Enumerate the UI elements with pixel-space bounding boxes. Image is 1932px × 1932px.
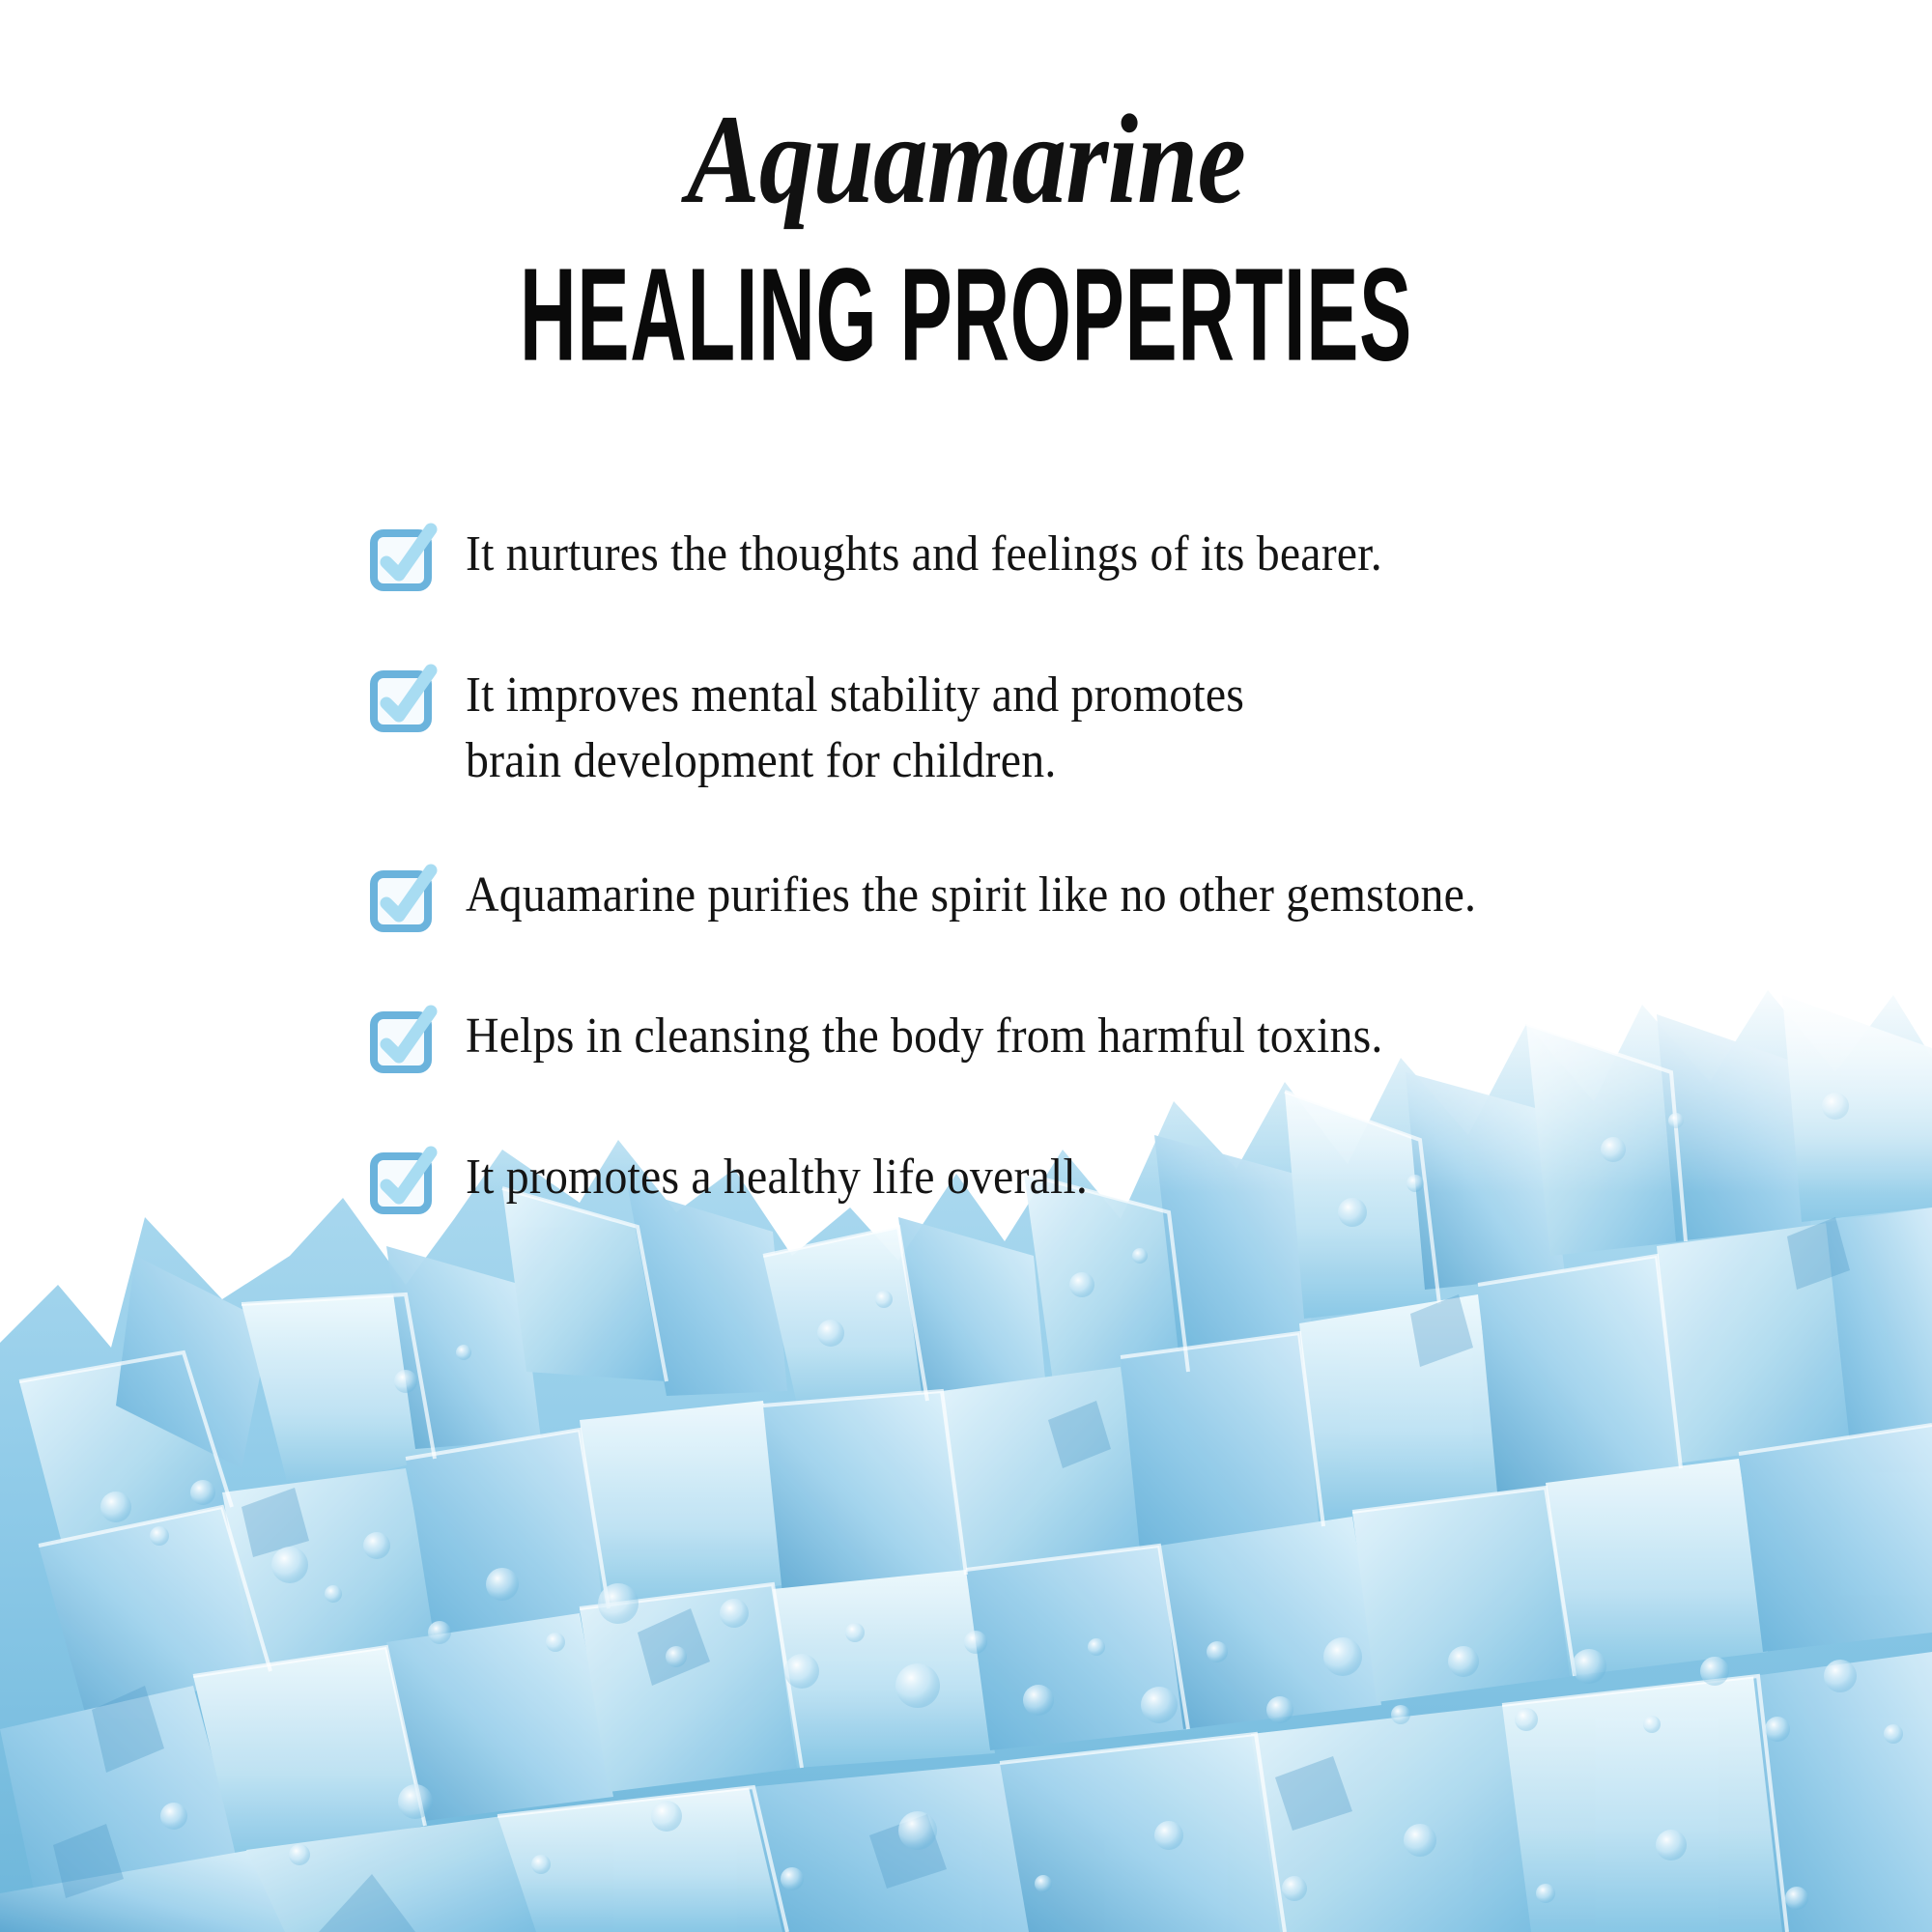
poster-canvas: Aquamarine HEALING PROPERTIES It nurture… xyxy=(0,0,1932,1932)
checkbox-checked-icon xyxy=(369,1008,437,1075)
list-item-label: It promotes a healthy life overall. xyxy=(466,1145,1088,1210)
list-item-label: Aquamarine purifies the spirit like no o… xyxy=(466,863,1476,928)
list-item: It improves mental stability and promote… xyxy=(369,663,1818,793)
checkbox-checked-icon xyxy=(369,867,437,934)
ice-crevices xyxy=(53,1217,1850,1932)
list-item: It promotes a healthy life overall. xyxy=(369,1145,1818,1216)
page-subtitle: HEALING PROPERTIES xyxy=(290,248,1642,381)
list-item-label: It improves mental stability and promote… xyxy=(466,663,1244,793)
healing-properties-list: It nurtures the thoughts and feelings of… xyxy=(369,522,1818,1216)
checkbox-checked-icon xyxy=(369,526,437,593)
page-title-block: Aquamarine HEALING PROPERTIES xyxy=(0,93,1932,360)
checkbox-checked-icon xyxy=(369,1149,437,1216)
list-item-label: It nurtures the thoughts and feelings of… xyxy=(466,522,1382,587)
list-item: Helps in cleansing the body from harmful… xyxy=(369,1004,1818,1075)
page-title: Aquamarine xyxy=(135,93,1797,227)
list-item: It nurtures the thoughts and feelings of… xyxy=(369,522,1818,593)
list-item: Aquamarine purifies the spirit like no o… xyxy=(369,863,1818,934)
checkbox-checked-icon xyxy=(369,667,437,734)
list-item-label: Helps in cleansing the body from harmful… xyxy=(466,1004,1383,1069)
